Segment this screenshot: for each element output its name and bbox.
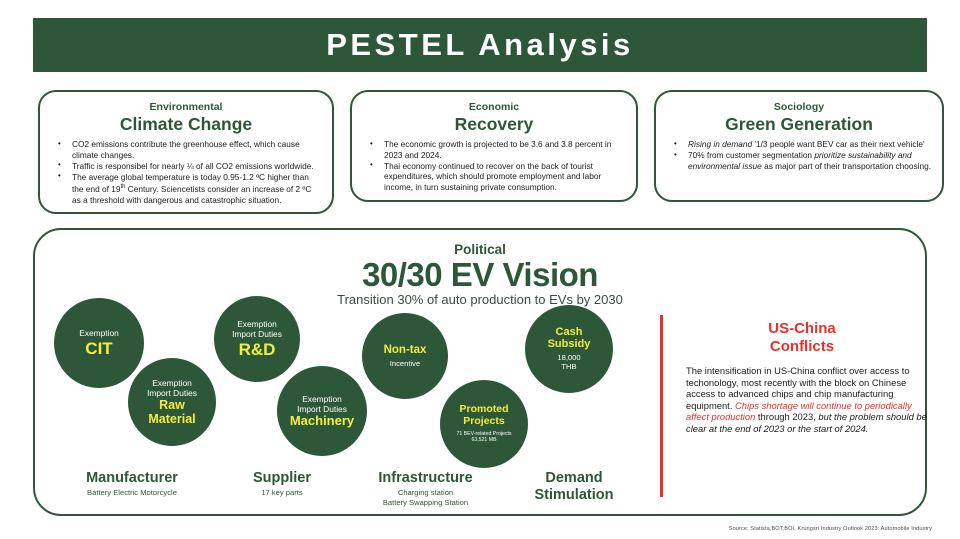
category-supplier: Supplier 17 key parts xyxy=(218,470,346,498)
political-subtitle: Transition 30% of auto production to EVs… xyxy=(35,292,925,307)
political-title: 30/30 EV Vision xyxy=(35,256,925,294)
us-china-body: The intensification in US-China conflict… xyxy=(686,365,930,435)
circle-non-tax[interactable]: Non-tax Incentive xyxy=(362,313,448,399)
card-bullet-list: The economic growth is projected to be 3… xyxy=(362,139,626,192)
circle-machinery[interactable]: Exemption Import Duties Machinery xyxy=(277,366,367,456)
category-subtitle: 17 key parts xyxy=(218,488,346,498)
circle-main-label: R&D xyxy=(239,340,276,359)
list-item: The average global temperature is today … xyxy=(50,172,322,206)
circle-top-label: Exemption xyxy=(237,319,277,329)
circle-main-label: Cash xyxy=(556,326,583,338)
card-bullet-list: CO2 emissions contribute the greenhouse … xyxy=(50,139,322,205)
card-heading: Recovery xyxy=(362,114,626,135)
circle-sub-label: Incentive xyxy=(390,359,420,369)
circle-top-label: Exemption xyxy=(302,394,342,404)
category-title: Infrastructure xyxy=(348,470,503,487)
red-divider xyxy=(660,315,663,497)
circle-main-label-2: Subsidy xyxy=(548,338,591,350)
circle-sub-label-2: THB xyxy=(561,362,576,372)
circle-top-label-2: Import Duties xyxy=(147,388,197,398)
circle-main-label: Machinery xyxy=(290,414,354,429)
list-item: Rising in demand '1/3 people want BEV ca… xyxy=(666,139,932,150)
card-bullet-list: Rising in demand '1/3 people want BEV ca… xyxy=(666,139,932,171)
category-demand-stimulation: Demand Stimulation xyxy=(510,470,638,504)
category-subtitle: Charging station xyxy=(348,488,503,498)
circle-promoted-projects[interactable]: Promoted Projects 71 BEV-related Project… xyxy=(440,380,528,468)
us-china-title-line2: Conflicts xyxy=(678,338,926,356)
list-item: 70% from customer segmentation prioritiz… xyxy=(666,150,932,171)
circle-rnd[interactable]: Exemption Import Duties R&D xyxy=(214,296,300,382)
circle-main-label: CIT xyxy=(85,339,112,358)
card-economic: Economic Recovery The economic growth is… xyxy=(350,90,638,202)
us-china-body-part2: through 2023, xyxy=(755,411,815,422)
category-title-2: Stimulation xyxy=(510,487,638,504)
category-subtitle: Battery Electric Motorcycle xyxy=(52,488,212,498)
political-eyebrow: Political xyxy=(35,242,925,257)
category-subtitle-2: Battery Swapping Station xyxy=(348,498,503,508)
card-eyebrow: Sociology xyxy=(666,101,932,114)
circle-sub-label: 18,000 xyxy=(557,353,580,363)
circle-top-label-2: Import Duties xyxy=(232,329,282,339)
card-eyebrow: Economic xyxy=(362,101,626,114)
circle-top-label: Exemption xyxy=(79,328,119,338)
card-sociology: Sociology Green Generation Rising in dem… xyxy=(654,90,944,202)
card-heading: Climate Change xyxy=(50,114,322,135)
circle-main-label-2: Projects xyxy=(463,416,504,428)
circle-cash-subsidy[interactable]: Cash Subsidy 18,000 THB xyxy=(525,305,613,393)
circle-raw-material[interactable]: Exemption Import Duties Raw Material xyxy=(128,358,216,446)
list-item: The economic growth is projected to be 3… xyxy=(362,139,626,160)
list-item: Traffic is responsibel for nearly ¼ of a… xyxy=(50,161,322,172)
list-item: Thai economy continued to recover on the… xyxy=(362,161,626,193)
source-note: Source: Statista,BOT,BOI, Krungsri Indus… xyxy=(729,526,932,532)
circle-cit[interactable]: Exemption CIT xyxy=(54,298,144,388)
category-title: Manufacturer xyxy=(52,470,212,487)
category-manufacturer: Manufacturer Battery Electric Motorcycle xyxy=(52,470,212,498)
circle-main-label: Raw Material xyxy=(134,398,210,426)
circle-main-label: Non-tax xyxy=(384,344,427,357)
category-infrastructure: Infrastructure Charging station Battery … xyxy=(348,470,503,507)
category-title: Demand xyxy=(510,470,638,487)
circle-tiny-label-2: 63,521 MB xyxy=(471,437,496,443)
header-banner: PESTEL Analysis xyxy=(33,18,927,72)
category-title: Supplier xyxy=(218,470,346,487)
us-china-title: US-China Conflicts xyxy=(678,320,926,356)
circle-top-label: Exemption xyxy=(152,378,192,388)
us-china-title-line1: US-China xyxy=(678,320,926,338)
infographic-root: PESTEL Analysis Environmental Climate Ch… xyxy=(0,0,960,539)
card-environmental: Environmental Climate Change CO2 emissio… xyxy=(38,90,334,214)
page-title: PESTEL Analysis xyxy=(326,27,634,63)
card-heading: Green Generation xyxy=(666,114,932,135)
list-item: CO2 emissions contribute the greenhouse … xyxy=(50,139,322,160)
card-eyebrow: Environmental xyxy=(50,101,322,114)
